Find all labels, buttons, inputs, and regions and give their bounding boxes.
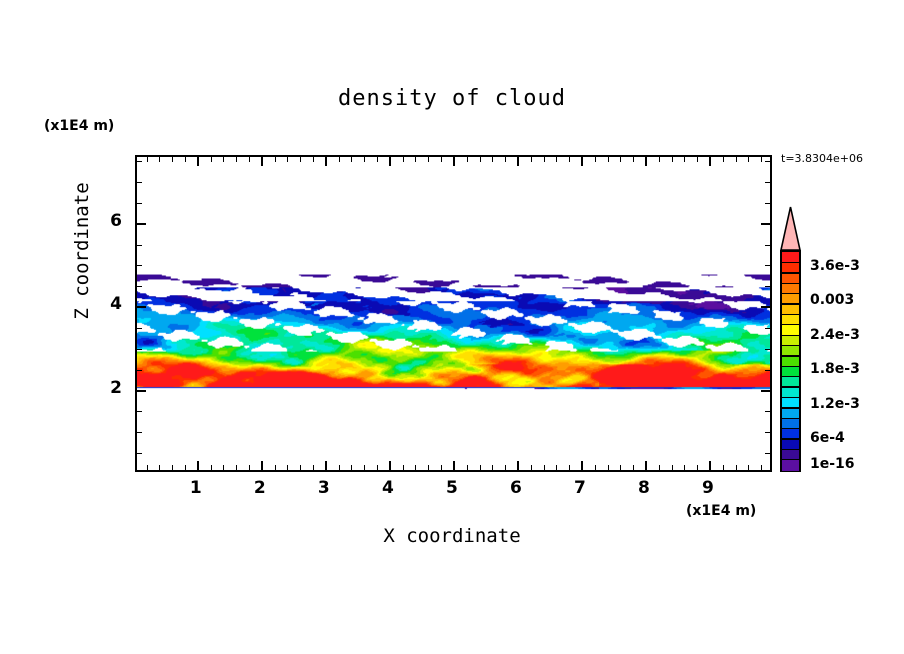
axis-tick — [672, 157, 673, 162]
axis-tick — [723, 465, 724, 470]
axis-tick — [415, 157, 416, 162]
axis-tick — [185, 157, 186, 162]
axis-tick — [351, 157, 352, 162]
axis-tick — [765, 411, 770, 412]
x-tick-label: 9 — [693, 478, 723, 498]
axis-tick — [137, 286, 142, 287]
axis-tick — [672, 465, 673, 470]
plot-area — [135, 155, 772, 472]
x-tick-label: 2 — [245, 478, 275, 498]
axis-tick — [659, 157, 660, 162]
colorbar-band-divider — [782, 438, 799, 439]
x-tick-label: 6 — [501, 478, 531, 498]
colorbar-band-divider — [782, 376, 799, 377]
colorbar-overflow-arrow-icon — [779, 206, 802, 251]
axis-tick — [765, 328, 770, 329]
axis-tick — [137, 223, 146, 225]
axis-tick — [389, 157, 391, 166]
axis-tick — [137, 328, 142, 329]
y-axis-title: Z coordinate — [71, 161, 93, 341]
axis-tick — [765, 203, 770, 204]
colorbar-band-divider — [782, 428, 799, 429]
y-tick-label: 6 — [100, 211, 122, 231]
axis-tick — [211, 157, 212, 162]
axis-tick — [684, 157, 685, 162]
axis-tick — [249, 465, 250, 470]
axis-tick — [428, 157, 429, 162]
colorbar-band-divider — [782, 314, 799, 315]
axis-tick — [480, 157, 481, 162]
colorbar-band-divider — [782, 324, 799, 325]
contour-field — [137, 157, 770, 470]
axis-tick — [137, 203, 142, 204]
axis-tick — [765, 286, 770, 287]
colorbar-band-divider — [782, 459, 799, 460]
axis-tick — [137, 306, 146, 308]
axis-tick — [723, 157, 724, 162]
axis-tick — [748, 465, 749, 470]
colorbar-tick-label: 1e-16 — [810, 456, 855, 472]
figure-canvas: density of cloud (x1E4 m) (x1E4 m) Z coo… — [0, 0, 904, 654]
axis-tick — [137, 265, 142, 266]
axis-tick — [211, 465, 212, 470]
y-tick-label: 2 — [100, 378, 122, 398]
axis-tick — [761, 390, 770, 392]
axis-tick — [581, 157, 583, 166]
axis-tick — [492, 157, 493, 162]
colorbar-band-divider — [782, 366, 799, 367]
axis-tick — [428, 465, 429, 470]
axis-tick — [197, 157, 199, 166]
x-tick-label: 3 — [309, 478, 339, 498]
colorbar — [780, 250, 801, 472]
axis-tick — [223, 465, 224, 470]
axis-tick — [453, 157, 455, 166]
axis-tick — [517, 157, 519, 166]
x-tick-label: 5 — [437, 478, 467, 498]
y-axis-unit-label: (x1E4 m) — [44, 118, 114, 134]
axis-tick — [249, 157, 250, 162]
axis-tick — [765, 432, 770, 433]
axis-tick — [480, 465, 481, 470]
colorbar-band-divider — [782, 303, 799, 304]
axis-tick — [595, 157, 596, 162]
axis-tick — [569, 157, 570, 162]
axis-tick — [137, 161, 142, 162]
axis-tick — [581, 461, 583, 470]
axis-tick — [595, 465, 596, 470]
axis-tick — [633, 465, 634, 470]
axis-tick — [313, 157, 314, 162]
axis-tick — [761, 157, 762, 162]
axis-tick — [415, 465, 416, 470]
colorbar-band-divider — [782, 407, 799, 408]
axis-tick — [236, 465, 237, 470]
axis-tick — [569, 465, 570, 470]
axis-tick — [736, 157, 737, 162]
axis-tick — [403, 157, 404, 162]
axis-tick — [765, 182, 770, 183]
axis-tick — [748, 157, 749, 162]
axis-tick — [697, 157, 698, 162]
axis-tick — [147, 465, 148, 470]
axis-tick — [505, 157, 506, 162]
colorbar-band-divider — [782, 262, 799, 263]
axis-tick — [761, 465, 762, 470]
axis-tick — [765, 370, 770, 371]
x-axis-unit-label: (x1E4 m) — [686, 503, 756, 519]
axis-tick — [275, 157, 276, 162]
colorbar-band-divider — [782, 386, 799, 387]
axis-tick — [467, 157, 468, 162]
axis-tick — [633, 157, 634, 162]
axis-tick — [339, 465, 340, 470]
colorbar-tick-label: 0.003 — [810, 292, 854, 308]
colorbar-band — [782, 460, 799, 471]
axis-tick — [137, 453, 142, 454]
axis-tick — [172, 157, 173, 162]
axis-tick — [137, 411, 142, 412]
axis-tick — [261, 157, 263, 166]
axis-tick — [531, 157, 532, 162]
axis-tick — [185, 465, 186, 470]
x-tick-label: 8 — [629, 478, 659, 498]
axis-tick — [300, 157, 301, 162]
axis-tick — [137, 432, 142, 433]
colorbar-band-divider — [782, 355, 799, 356]
axis-tick — [275, 465, 276, 470]
axis-tick — [645, 157, 647, 166]
axis-tick — [517, 461, 519, 470]
timestamp-annotation: t=3.8304e+06 — [781, 152, 863, 165]
axis-tick — [137, 370, 142, 371]
axis-tick — [441, 157, 442, 162]
axis-tick — [736, 465, 737, 470]
axis-tick — [765, 245, 770, 246]
axis-tick — [505, 465, 506, 470]
axis-tick — [159, 465, 160, 470]
axis-tick — [351, 465, 352, 470]
axis-tick — [364, 465, 365, 470]
axis-tick — [137, 245, 142, 246]
axis-tick — [608, 465, 609, 470]
axis-tick — [765, 161, 770, 162]
axis-tick — [197, 461, 199, 470]
colorbar-band-divider — [782, 418, 799, 419]
axis-tick — [556, 157, 557, 162]
colorbar-band-divider — [782, 272, 799, 273]
axis-tick — [620, 465, 621, 470]
axis-tick — [709, 461, 711, 470]
y-tick-label: 4 — [100, 294, 122, 314]
axis-tick — [223, 157, 224, 162]
axis-tick — [287, 157, 288, 162]
axis-tick — [261, 461, 263, 470]
axis-tick — [531, 465, 532, 470]
colorbar-tick-label: 3.6e-3 — [810, 258, 860, 274]
axis-tick — [364, 157, 365, 162]
axis-tick — [544, 465, 545, 470]
axis-tick — [608, 157, 609, 162]
colorbar-tick-label: 2.4e-3 — [810, 327, 860, 343]
axis-tick — [441, 465, 442, 470]
axis-tick — [645, 461, 647, 470]
axis-tick — [137, 349, 142, 350]
axis-tick — [236, 157, 237, 162]
axis-tick — [467, 465, 468, 470]
x-tick-label: 7 — [565, 478, 595, 498]
x-tick-label: 4 — [373, 478, 403, 498]
colorbar-tick-label: 6e-4 — [810, 430, 845, 446]
axis-tick — [339, 157, 340, 162]
axis-tick — [556, 465, 557, 470]
colorbar-tick-label: 1.2e-3 — [810, 396, 860, 412]
axis-tick — [137, 182, 142, 183]
axis-tick — [172, 465, 173, 470]
x-axis-title: X coordinate — [232, 525, 672, 547]
axis-tick — [684, 465, 685, 470]
axis-tick — [453, 461, 455, 470]
axis-tick — [544, 157, 545, 162]
axis-tick — [377, 465, 378, 470]
x-tick-label: 1 — [181, 478, 211, 498]
colorbar-band-divider — [782, 345, 799, 346]
axis-tick — [377, 157, 378, 162]
axis-tick — [659, 465, 660, 470]
colorbar-band-divider — [782, 293, 799, 294]
axis-tick — [765, 453, 770, 454]
axis-tick — [761, 306, 770, 308]
axis-tick — [761, 223, 770, 225]
axis-tick — [620, 157, 621, 162]
axis-tick — [403, 465, 404, 470]
axis-tick — [325, 157, 327, 166]
colorbar-band-divider — [782, 449, 799, 450]
axis-tick — [137, 390, 146, 392]
colorbar-band-divider — [782, 397, 799, 398]
axis-tick — [389, 461, 391, 470]
axis-tick — [765, 349, 770, 350]
axis-tick — [159, 157, 160, 162]
colorbar-band-divider — [782, 335, 799, 336]
chart-title: density of cloud — [0, 86, 904, 111]
axis-tick — [287, 465, 288, 470]
axis-tick — [765, 265, 770, 266]
axis-tick — [709, 157, 711, 166]
axis-tick — [492, 465, 493, 470]
colorbar-band-divider — [782, 283, 799, 284]
axis-tick — [147, 157, 148, 162]
colorbar-tick-label: 1.8e-3 — [810, 361, 860, 377]
axis-tick — [313, 465, 314, 470]
axis-tick — [697, 465, 698, 470]
axis-tick — [325, 461, 327, 470]
axis-tick — [300, 465, 301, 470]
